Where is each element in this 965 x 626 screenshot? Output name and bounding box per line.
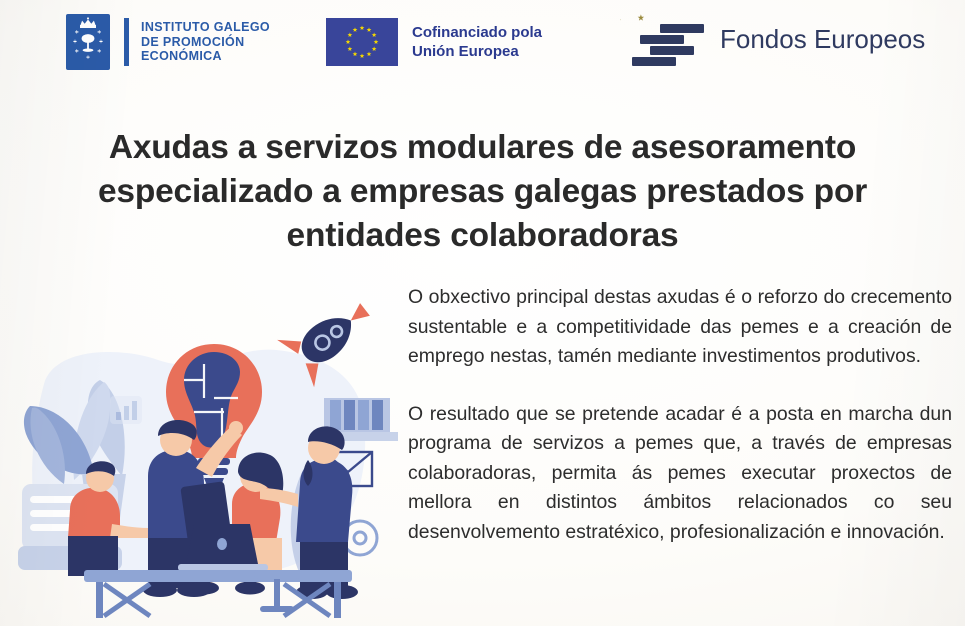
logo-eu-line2: Unión Europea xyxy=(412,42,542,61)
paragraph-objective: O obxectivo principal destas axudas é o … xyxy=(408,283,952,372)
logo-fondos-europeos: Fondos Europeos xyxy=(620,8,925,70)
logo-igape: INSTITUTO GALEGO DE PROMOCIÓN ECONÓMICA xyxy=(66,14,270,70)
desk xyxy=(84,570,352,618)
logo-igape-line2: DE PROMOCIÓN xyxy=(141,35,270,50)
page-title: Axudas a servizos modulares de asesorame… xyxy=(36,126,929,258)
star-group xyxy=(620,14,644,37)
logo-divider xyxy=(124,18,129,66)
logo-eu-text: Cofinanciado pola Unión Europea xyxy=(412,23,542,61)
team-collaboration-illustration xyxy=(8,288,400,620)
european-union-flag xyxy=(326,18,398,66)
logo-fondos-europeos-label: Fondos Europeos xyxy=(720,25,925,53)
xunta-de-galicia-emblem xyxy=(66,14,110,70)
logo-igape-line1: INSTITUTO GALEGO xyxy=(141,20,270,35)
logo-european-union: Cofinanciado pola Unión Europea xyxy=(326,18,542,66)
logo-bar: INSTITUTO GALEGO DE PROMOCIÓN ECONÓMICA … xyxy=(0,0,965,88)
body-text-column: O obxectivo principal destas axudas é o … xyxy=(408,283,952,547)
fondos-europeos-stairs-mark xyxy=(620,8,708,70)
chart-icon xyxy=(110,396,142,424)
paragraph-result: O resultado que se pretende acadar é a p… xyxy=(408,400,952,548)
stairs-bars xyxy=(632,24,704,66)
logo-eu-line1: Cofinanciado pola xyxy=(412,23,542,42)
logo-igape-text: INSTITUTO GALEGO DE PROMOCIÓN ECONÓMICA xyxy=(141,20,270,64)
logo-igape-line3: ECONÓMICA xyxy=(141,49,270,64)
